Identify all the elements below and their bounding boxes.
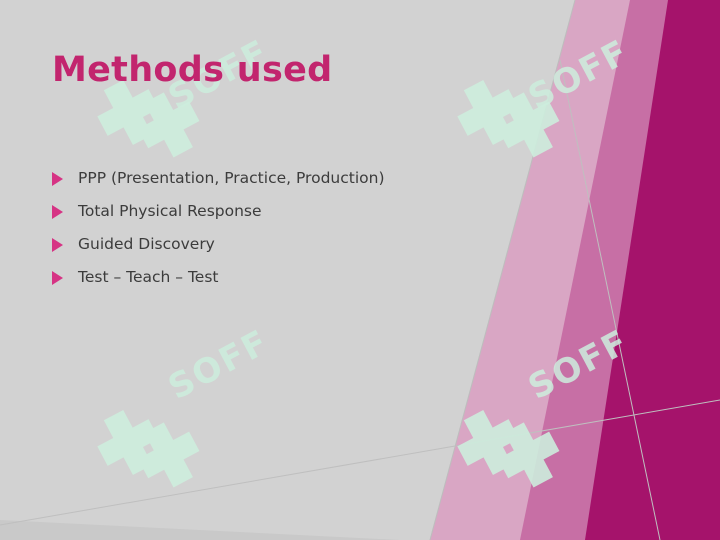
- list-item-label: Test – Teach – Test: [78, 267, 218, 287]
- list-item: Guided Discovery: [52, 234, 512, 256]
- arrow-bullet-icon: [52, 205, 64, 219]
- page-title: Methods used: [52, 50, 332, 90]
- list-item-label: PPP (Presentation, Practice, Production): [78, 168, 385, 188]
- list-item-label: Guided Discovery: [78, 234, 215, 254]
- list-item: PPP (Presentation, Practice, Production): [52, 168, 512, 190]
- arrow-bullet-icon: [52, 238, 64, 252]
- list-item-label: Total Physical Response: [78, 201, 262, 221]
- bullet-list: PPP (Presentation, Practice, Production)…: [52, 168, 512, 300]
- slide: SOFF SOFF SOFF SOFF Methods used PPP (Pr…: [0, 0, 720, 540]
- arrow-bullet-icon: [52, 271, 64, 285]
- list-item: Total Physical Response: [52, 201, 512, 223]
- arrow-bullet-icon: [52, 172, 64, 186]
- list-item: Test – Teach – Test: [52, 267, 512, 289]
